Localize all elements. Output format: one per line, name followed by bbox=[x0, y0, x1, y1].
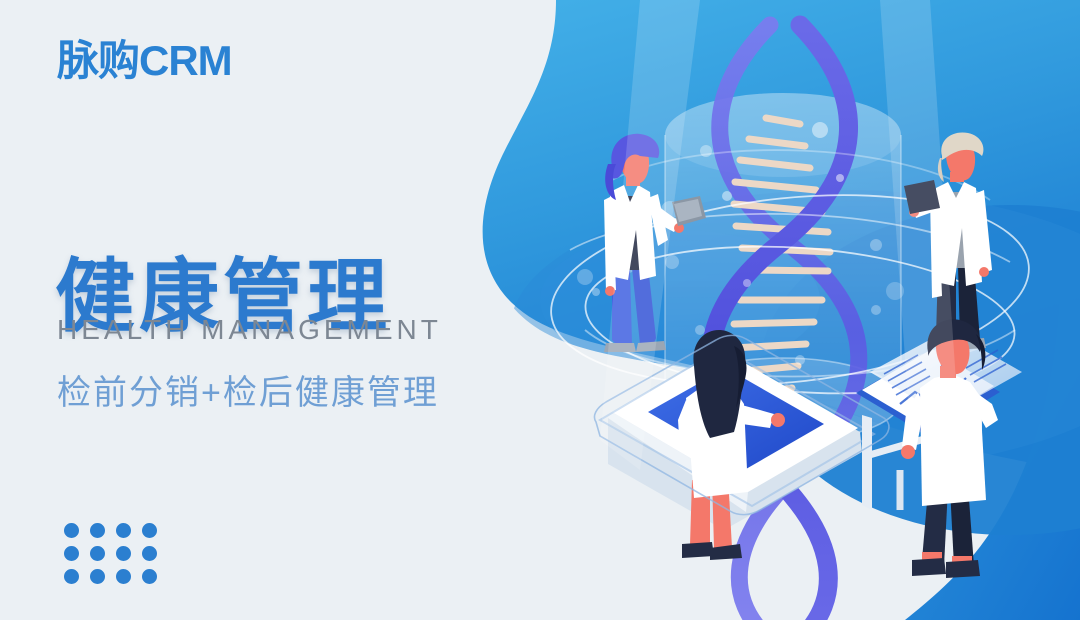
subtitle-english: HEALTH MANAGEMENT bbox=[57, 313, 442, 347]
dot bbox=[64, 523, 79, 538]
dot bbox=[142, 569, 157, 584]
health-management-banner: 脉购CRM 健康管理 HEALTH MANAGEMENT 检前分销+检后健康管理 bbox=[0, 0, 1080, 620]
dot bbox=[90, 546, 105, 561]
subtitle-chinese: 检前分销+检后健康管理 bbox=[57, 373, 439, 414]
dot-grid-decoration bbox=[64, 523, 168, 592]
dot bbox=[116, 523, 131, 538]
dot bbox=[142, 523, 157, 538]
dot bbox=[64, 569, 79, 584]
dot bbox=[90, 523, 105, 538]
dot bbox=[90, 569, 105, 584]
dot bbox=[142, 546, 157, 561]
brand-logo: 脉购CRM bbox=[57, 40, 232, 82]
dot bbox=[116, 569, 131, 584]
dot bbox=[116, 546, 131, 561]
dot bbox=[64, 546, 79, 561]
